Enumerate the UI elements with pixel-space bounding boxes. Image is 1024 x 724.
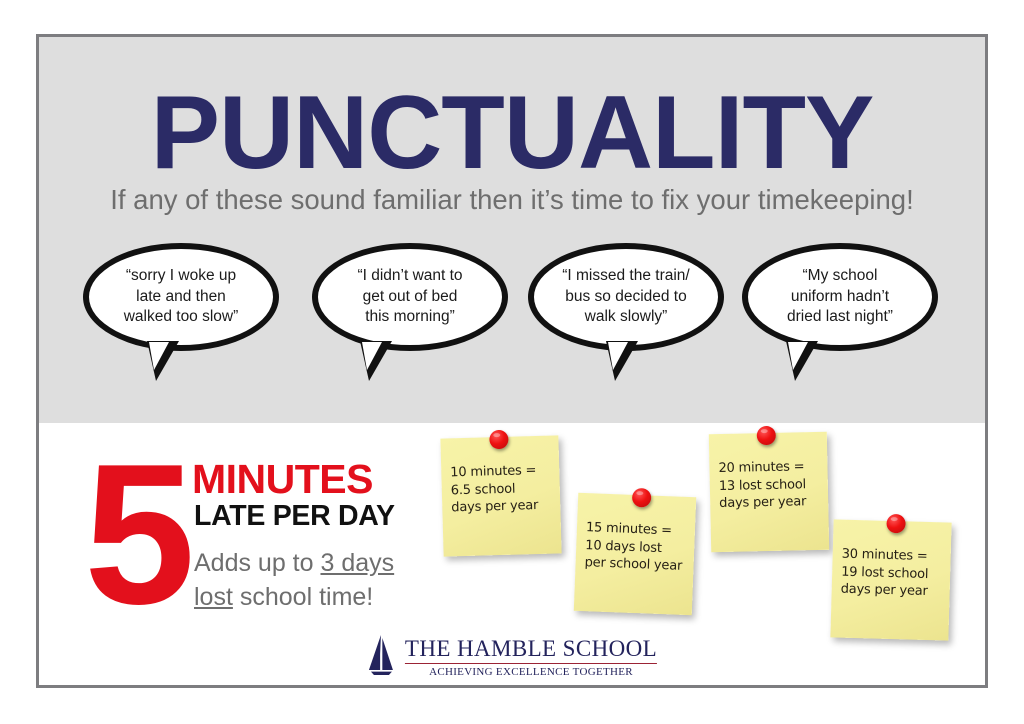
punctuality-poster: PUNCTUALITY If any of these sound famili… (0, 0, 1024, 724)
sticky-note: 10 minutes = 6.5 school days per year (440, 435, 561, 556)
speech-bubble-tail-fill-icon (608, 342, 628, 370)
headline-number: 5 (84, 435, 189, 635)
speech-bubble: “I didn’t want to get out of bed this mo… (312, 243, 508, 351)
sticky-note-text: 20 minutes = 13 lost school days per yea… (718, 458, 823, 513)
speech-bubble-tail-fill-icon (788, 342, 808, 370)
sticky-note-text: 10 minutes = 6.5 school days per year (450, 462, 555, 518)
sticky-note: 15 minutes = 10 days lost per school yea… (574, 493, 696, 615)
adds-up-emphasis-days: 3 days (320, 549, 394, 577)
headline-minutes: MINUTES (192, 459, 373, 500)
logo-school-name: THE HAMBLE SCHOOL (405, 637, 657, 663)
speech-bubble-text: “I didn’t want to get out of bed this mo… (349, 266, 470, 327)
speech-bubble-tail-fill-icon (149, 342, 169, 370)
speech-bubble: “I missed the train/ bus so decided to w… (528, 243, 724, 351)
page-title: PUNCTUALITY (39, 81, 985, 185)
sticky-note-text: 15 minutes = 10 days lost per school yea… (584, 519, 690, 576)
school-logo: THE HAMBLE SCHOOL ACHIEVING EXCELLENCE T… (367, 634, 657, 681)
headline-block: 5 MINUTES LATE PER DAY Adds up to 3 days… (84, 451, 434, 626)
sailboat-icon (367, 634, 397, 681)
poster-frame: PUNCTUALITY If any of these sound famili… (36, 34, 988, 688)
speech-bubble-group: “sorry I woke up late and then walked to… (39, 237, 985, 387)
pushpin-icon (757, 426, 776, 445)
pushpin-icon (489, 430, 509, 450)
headline-adds-up: Adds up to 3 days lost school time! (194, 547, 434, 614)
logo-tagline: ACHIEVING EXCELLENCE TOGETHER (405, 666, 657, 678)
lower-section: 5 MINUTES LATE PER DAY Adds up to 3 days… (39, 423, 985, 688)
pushpin-icon (886, 514, 906, 534)
adds-up-prefix: Adds up to (194, 549, 320, 577)
page-subtitle: If any of these sound familiar then it’s… (39, 184, 985, 216)
speech-bubble-text: “My school uniform hadn’t dried last nig… (779, 266, 901, 327)
sticky-note: 20 minutes = 13 lost school days per yea… (709, 432, 829, 552)
adds-up-suffix: school time! (233, 583, 373, 611)
adds-up-emphasis-lost: lost (194, 583, 233, 611)
speech-bubble-tail-fill-icon (362, 342, 382, 370)
pushpin-icon (632, 488, 652, 508)
speech-bubble: “sorry I woke up late and then walked to… (83, 243, 279, 351)
speech-bubble-text: “sorry I woke up late and then walked to… (116, 266, 247, 327)
speech-bubble: “My school uniform hadn’t dried last nig… (742, 243, 938, 351)
header-band: PUNCTUALITY If any of these sound famili… (39, 37, 985, 423)
sticky-note: 30 minutes = 19 lost school days per yea… (830, 519, 951, 640)
headline-late-per-day: LATE PER DAY (194, 502, 395, 531)
sticky-note-text: 30 minutes = 19 lost school days per yea… (840, 546, 945, 602)
speech-bubble-text: “I missed the train/ bus so decided to w… (554, 266, 698, 327)
logo-text-block: THE HAMBLE SCHOOL ACHIEVING EXCELLENCE T… (405, 637, 657, 677)
